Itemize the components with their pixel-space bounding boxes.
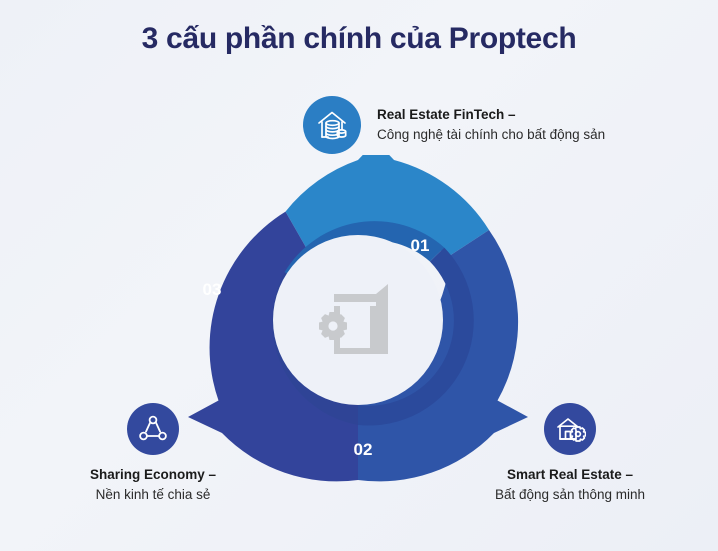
segment-label-01: 01 bbox=[411, 236, 430, 255]
node-sharing-economy[interactable]: Sharing Economy – Nền kinh tế chia sẻ bbox=[8, 403, 298, 506]
node-title: Smart Real Estate – bbox=[495, 465, 645, 485]
house-gear-icon bbox=[544, 403, 596, 455]
node-description: Công nghệ tài chính cho bất động sản bbox=[377, 125, 605, 145]
node-title: Real Estate FinTech – bbox=[377, 105, 605, 125]
segment-label-03: 03 bbox=[203, 280, 222, 299]
donut-center-disc bbox=[273, 235, 443, 405]
node-caption: Smart Real Estate – Bất động sản thông m… bbox=[495, 465, 645, 506]
node-title: Sharing Economy – bbox=[90, 465, 216, 485]
segment-label-02: 02 bbox=[354, 440, 373, 459]
house-coins-icon bbox=[303, 96, 361, 154]
node-real-estate-fintech[interactable]: Real Estate FinTech – Công nghệ tài chín… bbox=[303, 96, 605, 154]
node-smart-real-estate[interactable]: Smart Real Estate – Bất động sản thông m… bbox=[425, 403, 715, 506]
node-caption: Real Estate FinTech – Công nghệ tài chín… bbox=[377, 105, 605, 146]
page-title: 3 cấu phần chính của Proptech bbox=[0, 22, 718, 56]
node-caption: Sharing Economy – Nền kinh tế chia sẻ bbox=[90, 465, 216, 506]
node-description: Bất động sản thông minh bbox=[495, 485, 645, 505]
share-network-icon bbox=[127, 403, 179, 455]
node-description: Nền kinh tế chia sẻ bbox=[90, 485, 216, 505]
